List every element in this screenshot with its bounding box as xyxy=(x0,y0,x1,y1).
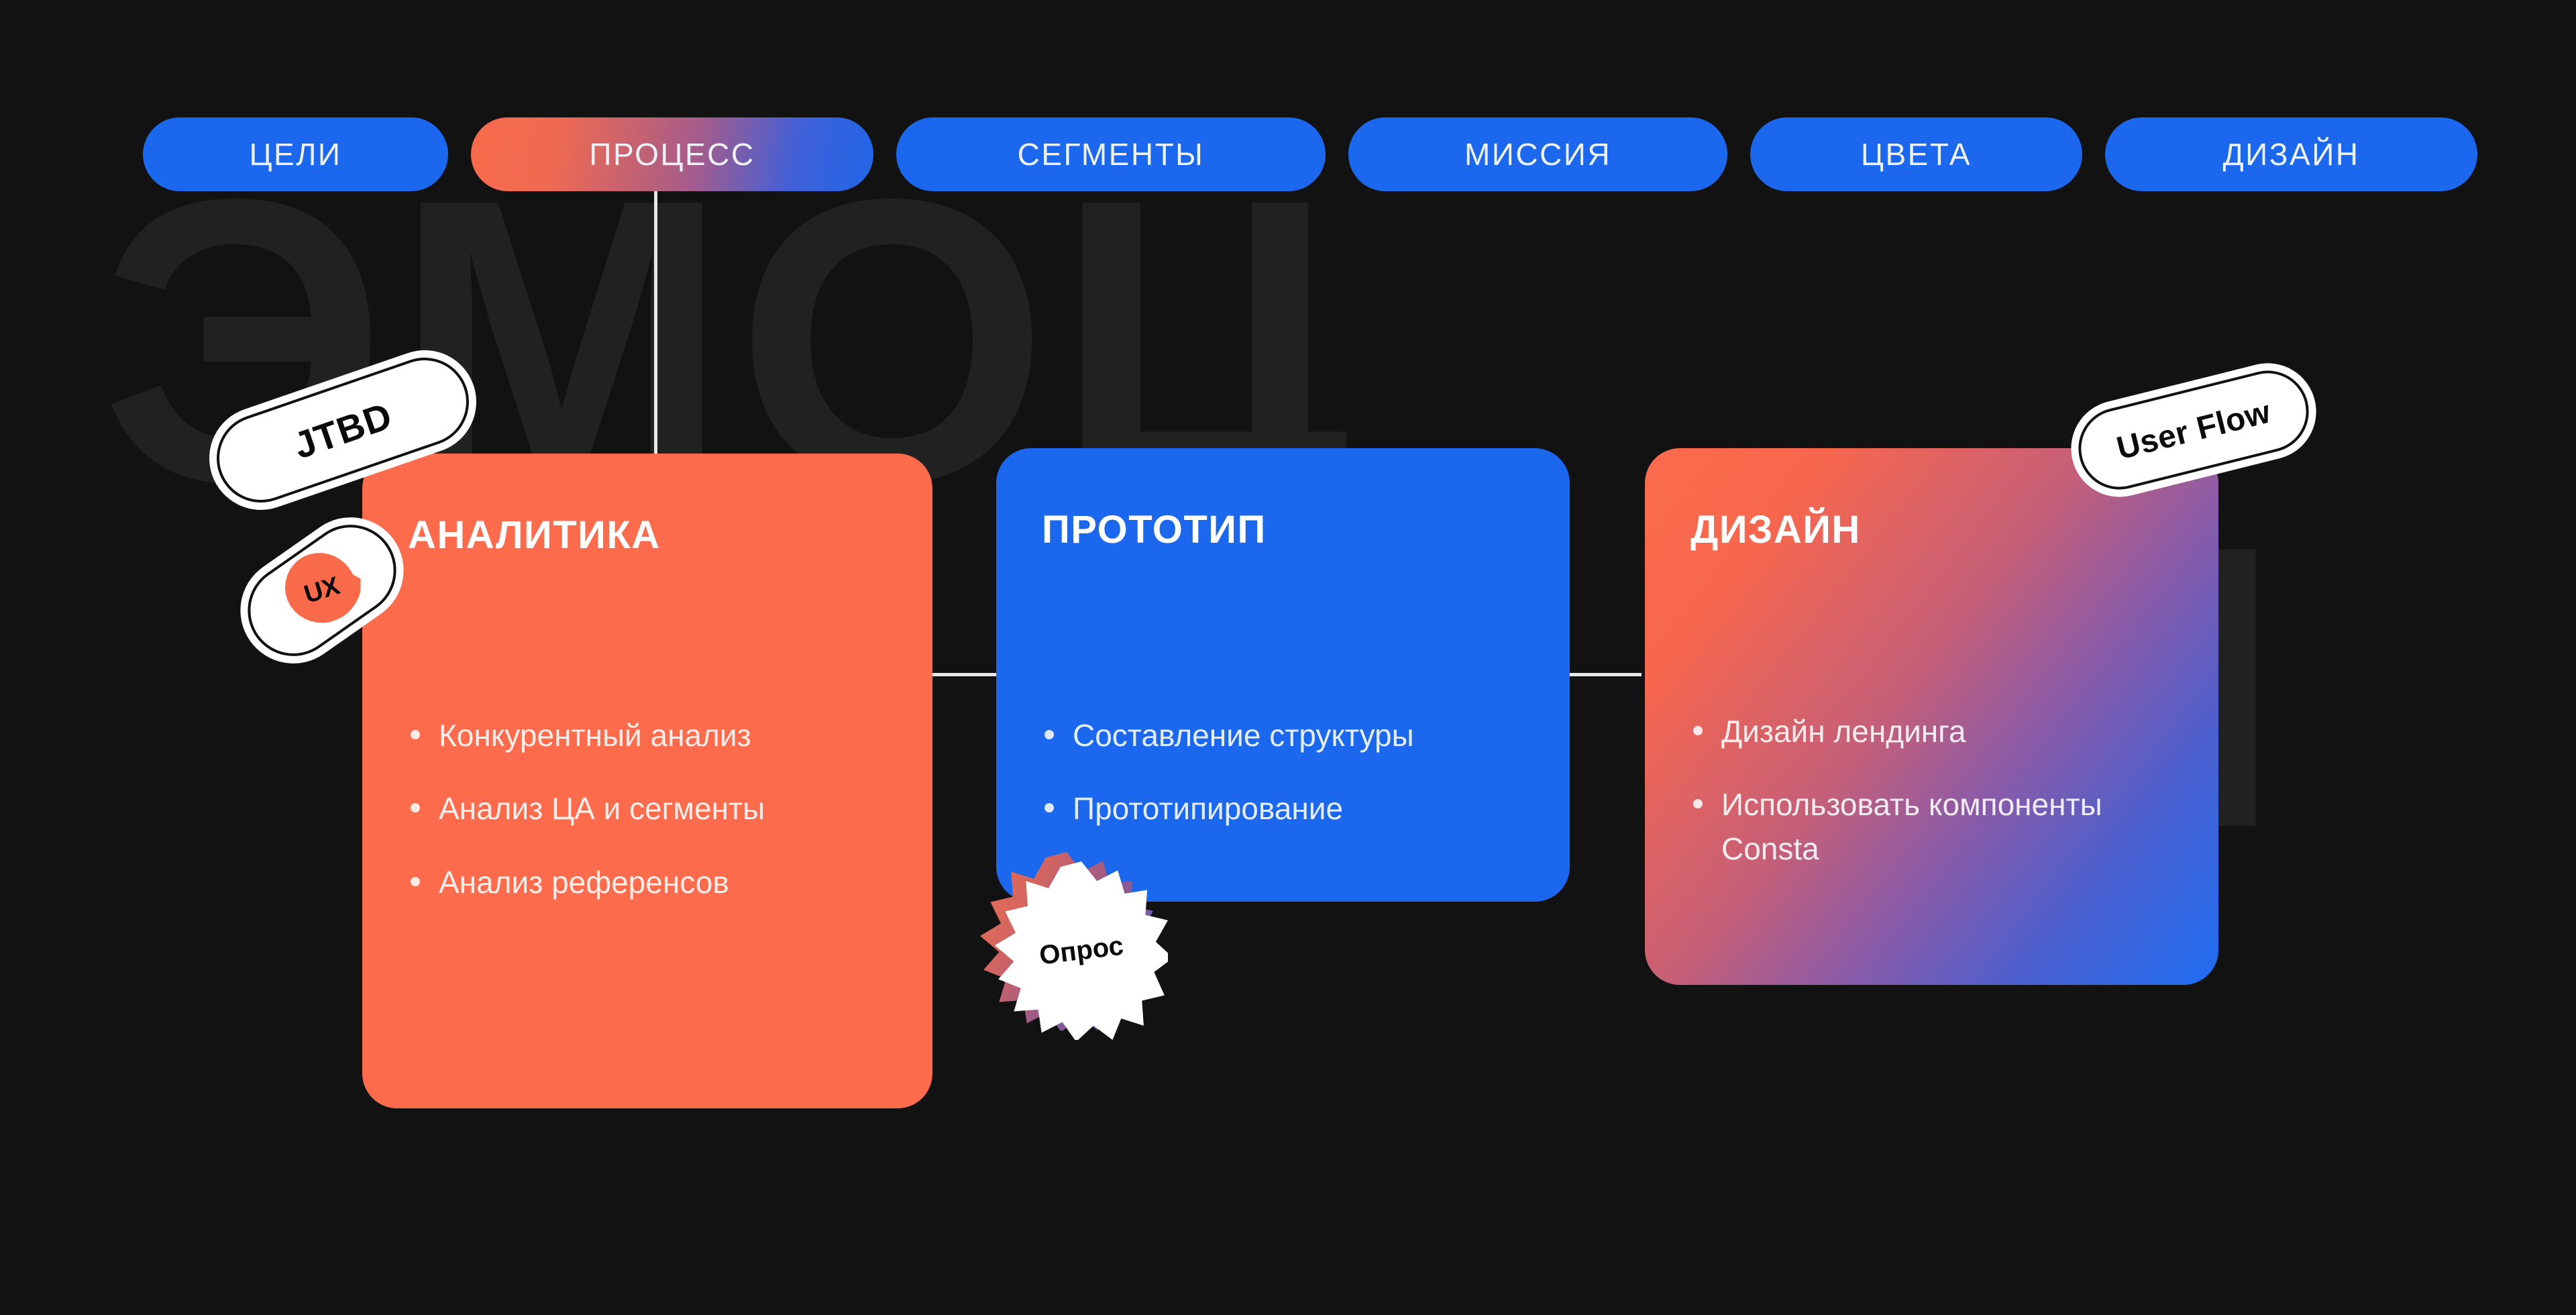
connector-vertical-process-to-analytics xyxy=(654,191,657,456)
slide-canvas: ЭМОЦИИ ЦЕЛИ ПРОЦЕСС СЕГМЕНТЫ МИССИЯ ЦВЕТ… xyxy=(0,0,2576,1315)
top-nav: ЦЕЛИ ПРОЦЕСС СЕГМЕНТЫ МИССИЯ ЦВЕТА ДИЗАЙ… xyxy=(143,117,2477,191)
nav-pill-segmenty[interactable]: СЕГМЕНТЫ xyxy=(896,117,1326,191)
list-item: Анализ ЦА и сегменты xyxy=(404,787,906,831)
nav-pill-missiya[interactable]: МИССИЯ xyxy=(1348,117,1727,191)
connector-horizontal-analytics-to-prototype xyxy=(932,673,1000,676)
card-analytics-title: АНАЛИТИКА xyxy=(408,513,661,558)
nav-pill-tseli[interactable]: ЦЕЛИ xyxy=(143,117,448,191)
connector-horizontal-prototype-to-design xyxy=(1568,673,1642,676)
nav-pill-tsveta[interactable]: ЦВЕТА xyxy=(1750,117,2082,191)
card-analytics[interactable]: АНАЛИТИКА Конкурентный анализ Анализ ЦА … xyxy=(362,454,932,1108)
list-item: Дизайн лендинга xyxy=(1686,710,2192,753)
card-design-title: ДИЗАЙН xyxy=(1690,507,1861,552)
ux-seal-icon: UX xyxy=(272,540,372,641)
card-design-list: Дизайн лендинга Использовать компоненты … xyxy=(1686,710,2192,900)
sticker-opros[interactable]: Опрос xyxy=(995,861,1168,1040)
list-item: Составление структуры xyxy=(1038,714,1543,757)
card-analytics-list: Конкурентный анализ Анализ ЦА и сегменты… xyxy=(404,714,906,934)
sticker-opros-label: Опрос xyxy=(985,851,1178,1049)
card-prototype[interactable]: ПРОТОТИП Составление структуры Прототипи… xyxy=(996,448,1570,902)
list-item: Анализ референсов xyxy=(404,861,906,904)
list-item: Конкурентный анализ xyxy=(404,714,906,757)
card-prototype-title: ПРОТОТИП xyxy=(1042,507,1267,552)
card-design[interactable]: ДИЗАЙН Дизайн лендинга Использовать комп… xyxy=(1645,448,2218,985)
list-item: Использовать компоненты Consta xyxy=(1686,783,2192,871)
list-item: Прототипирование xyxy=(1038,787,1543,831)
nav-pill-process[interactable]: ПРОЦЕСС xyxy=(471,117,873,191)
nav-pill-dizayn[interactable]: ДИЗАЙН xyxy=(2105,117,2477,191)
card-prototype-list: Составление структуры Прототипирование xyxy=(1038,714,1543,861)
